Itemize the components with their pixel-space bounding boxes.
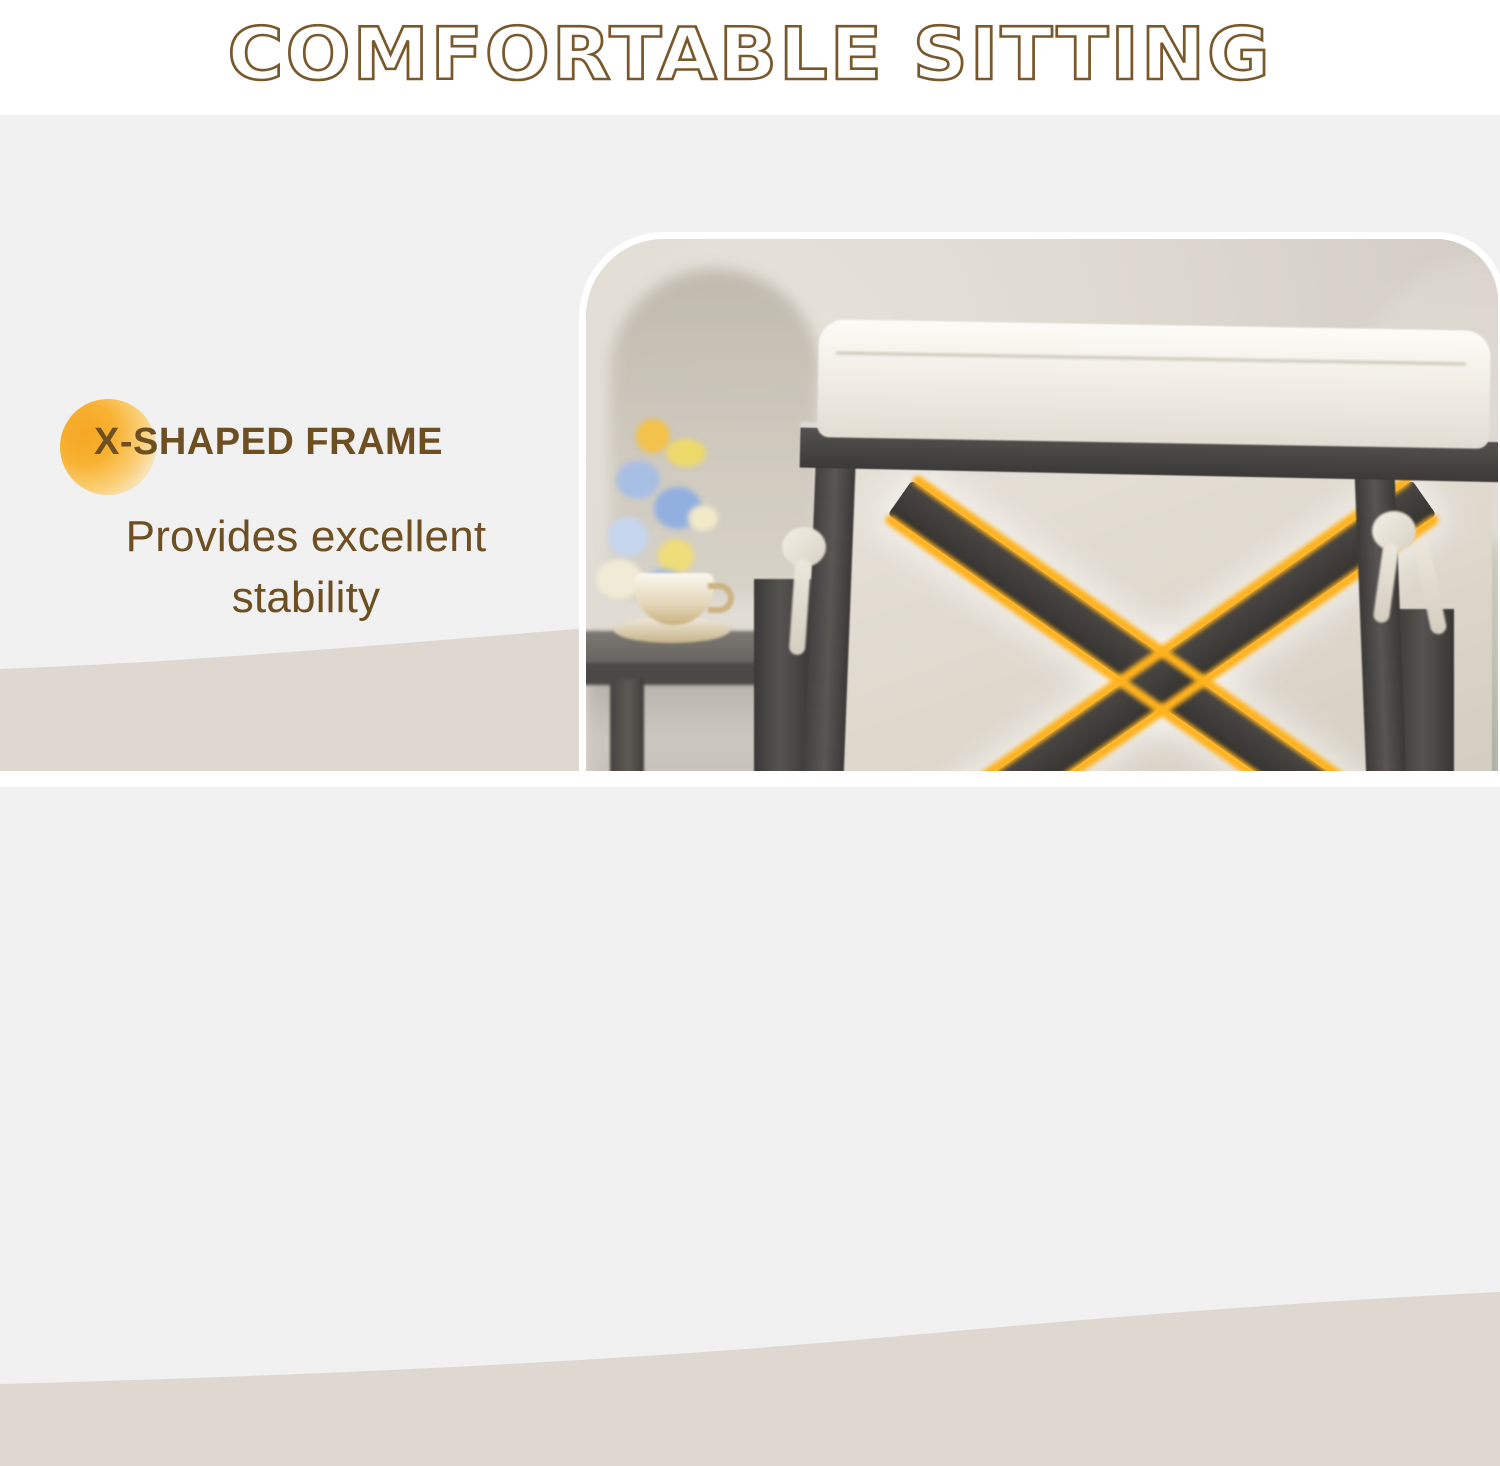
infographic-page: COMFORTABLE SITTING [0, 0, 1500, 1466]
side-table-leg [610, 679, 644, 771]
photo-x-shaped-frame [586, 239, 1498, 771]
feature-panel-wide-armrest: 2" WIDE ARMREST Provide superior arm sup… [0, 787, 1500, 1466]
feature-title: X-SHAPED FRAME [94, 421, 443, 464]
feature-description: Provides excellent stability [46, 507, 566, 628]
feature-heading-row: X-SHAPED FRAME [46, 395, 566, 501]
head-cushion [817, 319, 1491, 449]
page-title-bar: COMFORTABLE SITTING [0, 0, 1500, 108]
feature-panel-x-shaped-frame: X-SHAPED FRAME Provides excellent stabil… [0, 115, 1500, 771]
beige-wave-bottom [0, 1266, 1500, 1466]
page-title: COMFORTABLE SITTING [228, 12, 1272, 96]
feature-text-x-shaped-frame: X-SHAPED FRAME Provides excellent stabil… [46, 395, 566, 628]
